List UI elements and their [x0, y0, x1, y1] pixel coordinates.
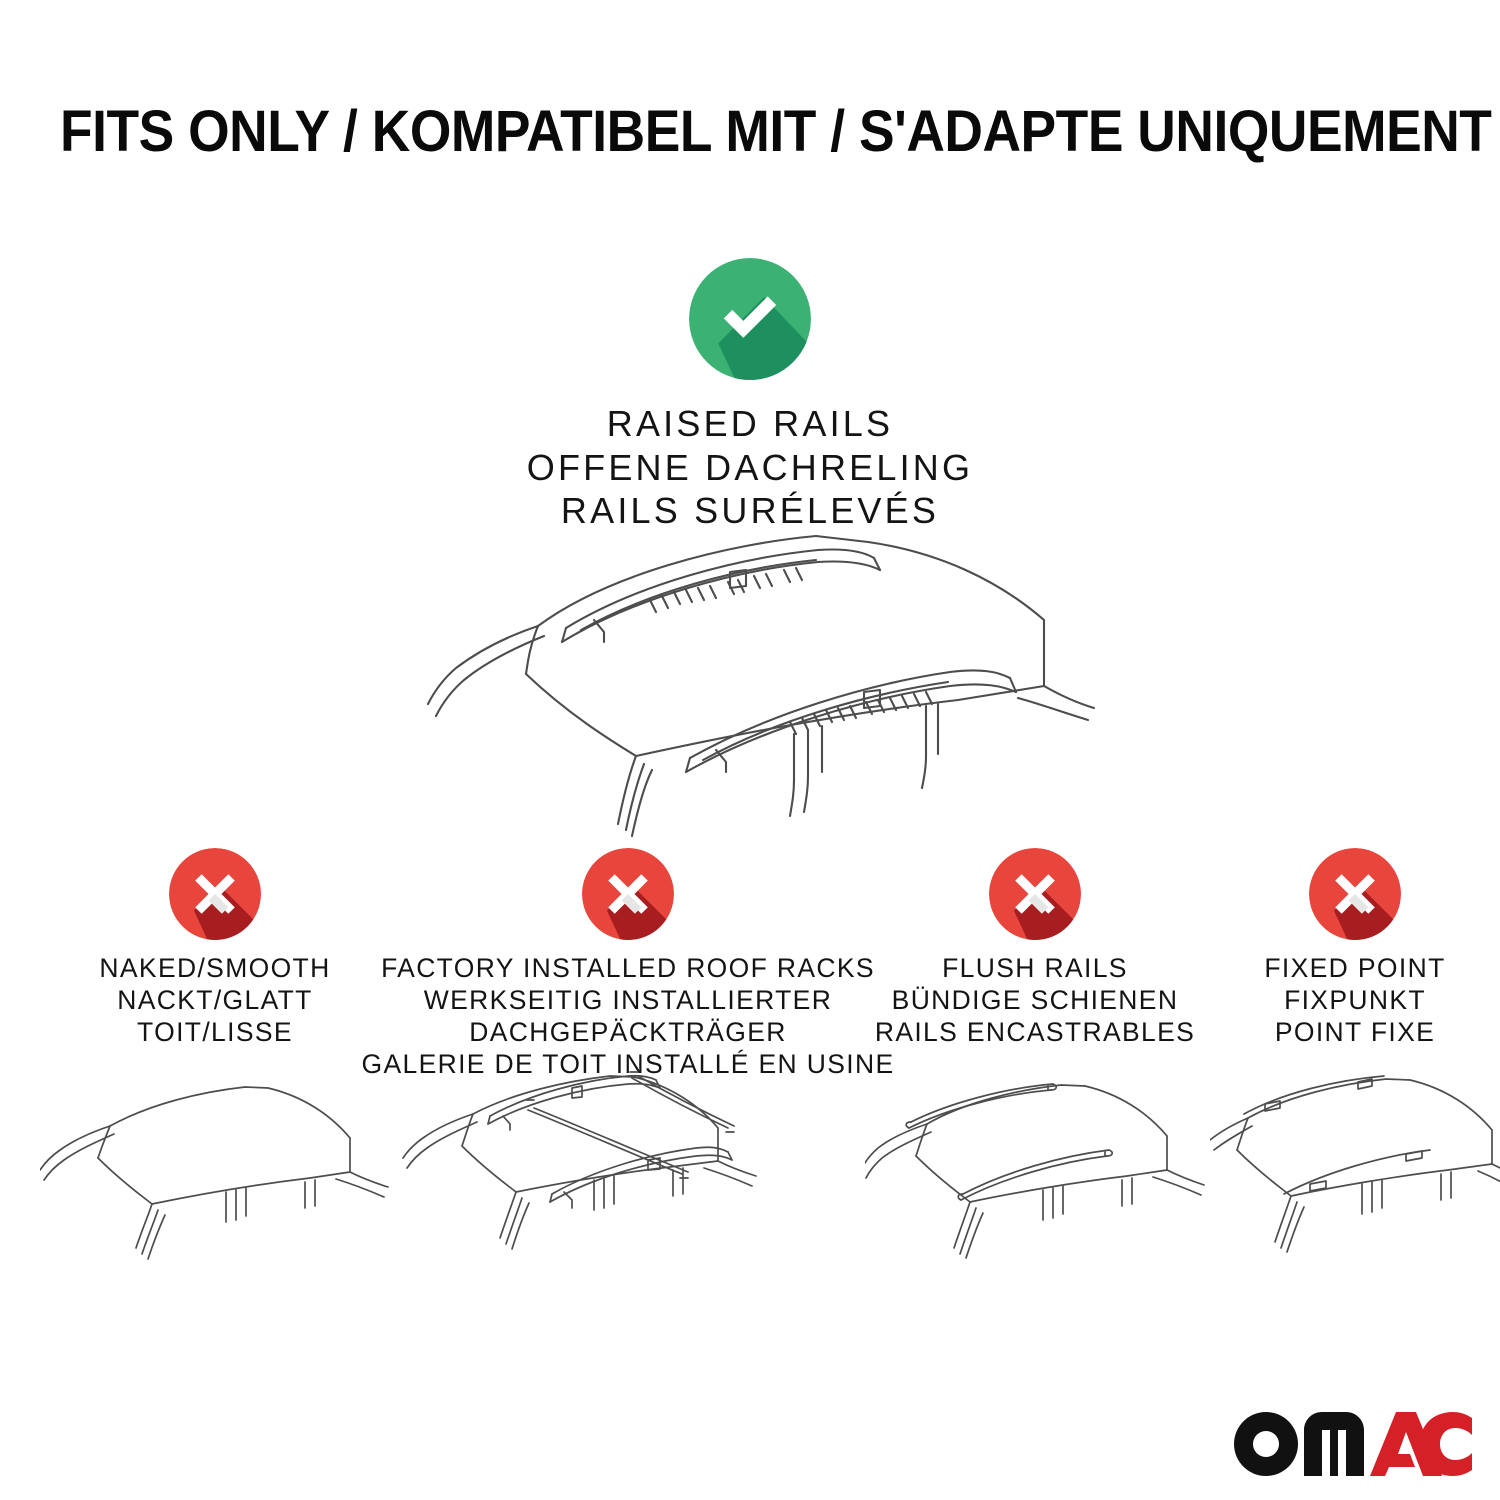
cross-circle-icon — [1309, 848, 1401, 940]
not-compatible-column-naked-smooth: NAKED/SMOOTH NACKT/GLATT TOIT/LISSE — [40, 848, 390, 1048]
label-en: FIXED POINT — [1264, 952, 1445, 984]
car-roof-raised-rails-illustration — [398, 508, 1124, 838]
car-roof-flush-rails-illustration — [865, 1066, 1205, 1271]
compatible-label-en: RAISED RAILS — [527, 402, 973, 446]
column-labels: FACTORY INSTALLED ROOF RACKS WERKSEITIG … — [362, 952, 895, 1080]
column-labels: FIXED POINT FIXPUNKT POINT FIXE — [1264, 952, 1445, 1048]
cross-circle-icon — [582, 848, 674, 940]
not-compatible-column-flush-rails: FLUSH RAILS BÜNDIGE SCHIENEN RAILS ENCAS… — [865, 848, 1205, 1048]
cross-circle-icon — [169, 848, 261, 940]
label-de-2: DACHGEPÄCKTRÄGER — [362, 1016, 895, 1048]
not-compatible-section: NAKED/SMOOTH NACKT/GLATT TOIT/LISSE — [0, 848, 1500, 1268]
label-de: NACKT/GLATT — [99, 984, 330, 1016]
column-labels: NAKED/SMOOTH NACKT/GLATT TOIT/LISSE — [99, 952, 330, 1048]
label-fr: POINT FIXE — [1264, 1016, 1445, 1048]
cross-circle-icon — [989, 848, 1081, 940]
car-roof-naked-smooth-illustration — [40, 1066, 390, 1271]
label-en: NAKED/SMOOTH — [99, 952, 330, 984]
compatible-section: RAISED RAILS OFFENE DACHRELING RAILS SUR… — [0, 258, 1500, 533]
not-compatible-column-factory-roof-racks: FACTORY INSTALLED ROOF RACKS WERKSEITIG … — [398, 848, 858, 1080]
not-compatible-column-fixed-point: FIXED POINT FIXPUNKT POINT FIXE — [1210, 848, 1500, 1048]
label-en: FLUSH RAILS — [875, 952, 1195, 984]
car-roof-fixed-point-illustration — [1210, 1066, 1500, 1271]
label-fr: TOIT/LISSE — [99, 1016, 330, 1048]
label-fr: RAILS ENCASTRABLES — [875, 1016, 1195, 1048]
page-title: FITS ONLY / KOMPATIBEL MIT / S'ADAPTE UN… — [60, 103, 1440, 161]
label-en: FACTORY INSTALLED ROOF RACKS — [362, 952, 895, 984]
omac-logo: OMAC — [1234, 1412, 1472, 1476]
label-de-1: WERKSEITIG INSTALLIERTER — [362, 984, 895, 1016]
check-circle-icon — [689, 258, 811, 380]
label-de: FIXPUNKT — [1264, 984, 1445, 1016]
column-labels: FLUSH RAILS BÜNDIGE SCHIENEN RAILS ENCAS… — [875, 952, 1195, 1048]
compatible-label-de: OFFENE DACHRELING — [527, 446, 973, 490]
label-de: BÜNDIGE SCHIENEN — [875, 984, 1195, 1016]
logo-text: OMAC — [1234, 1476, 1235, 1477]
car-roof-factory-roof-racks-illustration — [398, 1066, 858, 1271]
